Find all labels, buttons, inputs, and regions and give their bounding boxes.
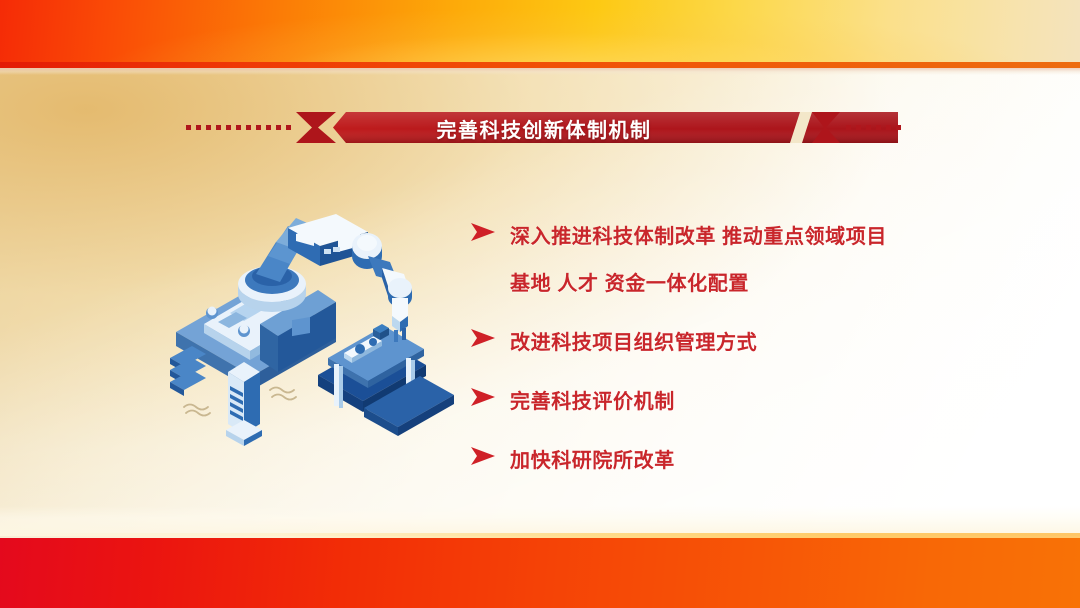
- banner-right-dots: [846, 125, 901, 130]
- arrow-right-icon: [470, 328, 496, 348]
- bullet-list: 深入推进科技体制改革 推动重点领域项目 基地 人才 资金一体化配置 改进科技项目…: [470, 214, 940, 497]
- arrow-right-icon: [470, 222, 496, 242]
- slide-canvas: 完善科技创新体制机制 深入推进科技体制: [0, 0, 1080, 608]
- arrow-right-icon: [470, 446, 496, 466]
- list-item: 加快科研院所改革: [470, 438, 940, 485]
- list-item: 改进科技项目组织管理方式: [470, 320, 940, 367]
- list-item-label: 完善科技评价机制: [510, 379, 940, 426]
- top-bar-glow: [0, 0, 1080, 62]
- list-item: 深入推进科技体制改革 推动重点领域项目 基地 人才 资金一体化配置: [470, 214, 940, 308]
- stair-steps: [170, 346, 206, 396]
- list-item-label: 深入推进科技体制改革 推动重点领域项目 基地 人才 资金一体化配置: [510, 214, 940, 308]
- banner-right-chevron: [812, 112, 840, 143]
- arrow-right-icon: [470, 387, 496, 407]
- list-item-label: 加快科研院所改革: [510, 438, 940, 485]
- section-title-banner-right-cap: [790, 106, 910, 150]
- top-bar-fade: [0, 68, 1080, 75]
- bottom-bar-fade: [0, 506, 1080, 536]
- industrial-robot-arm-illustration: [168, 212, 468, 452]
- list-item: 完善科技评价机制: [470, 379, 940, 426]
- banner-gap-slash: [790, 112, 812, 143]
- top-decorative-bar: [0, 0, 1080, 62]
- list-item-label: 改进科技项目组织管理方式: [510, 320, 940, 367]
- bottom-decorative-bar: [0, 538, 1080, 608]
